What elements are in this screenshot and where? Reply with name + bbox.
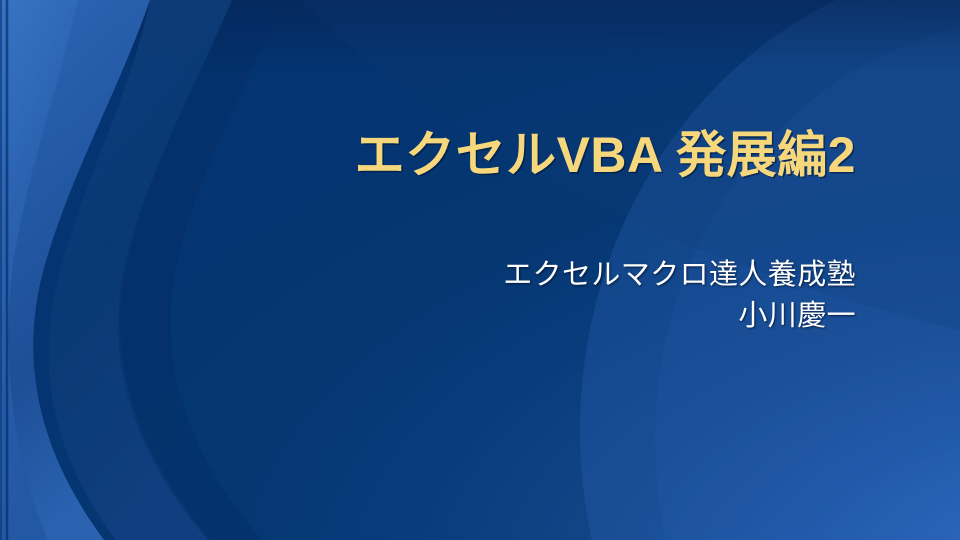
subtitle-line-organization: エクセルマクロ達人養成塾: [120, 255, 856, 296]
top-shade-band: [0, 0, 960, 70]
left-edge-stripe-2: [0, 0, 2, 540]
presentation-slide: エクセルVBA 発展編2 エクセルマクロ達人養成塾 小川慶一: [0, 0, 960, 540]
subtitle-line-author: 小川慶一: [120, 296, 856, 337]
title-container: エクセルVBA 発展編2: [60, 126, 856, 184]
subtitle-container: エクセルマクロ達人養成塾 小川慶一: [120, 255, 856, 337]
slide-title: エクセルVBA 発展編2: [355, 126, 856, 184]
left-edge-stripe: [5, 0, 9, 540]
left-swoosh-mid: [0, 0, 78, 540]
